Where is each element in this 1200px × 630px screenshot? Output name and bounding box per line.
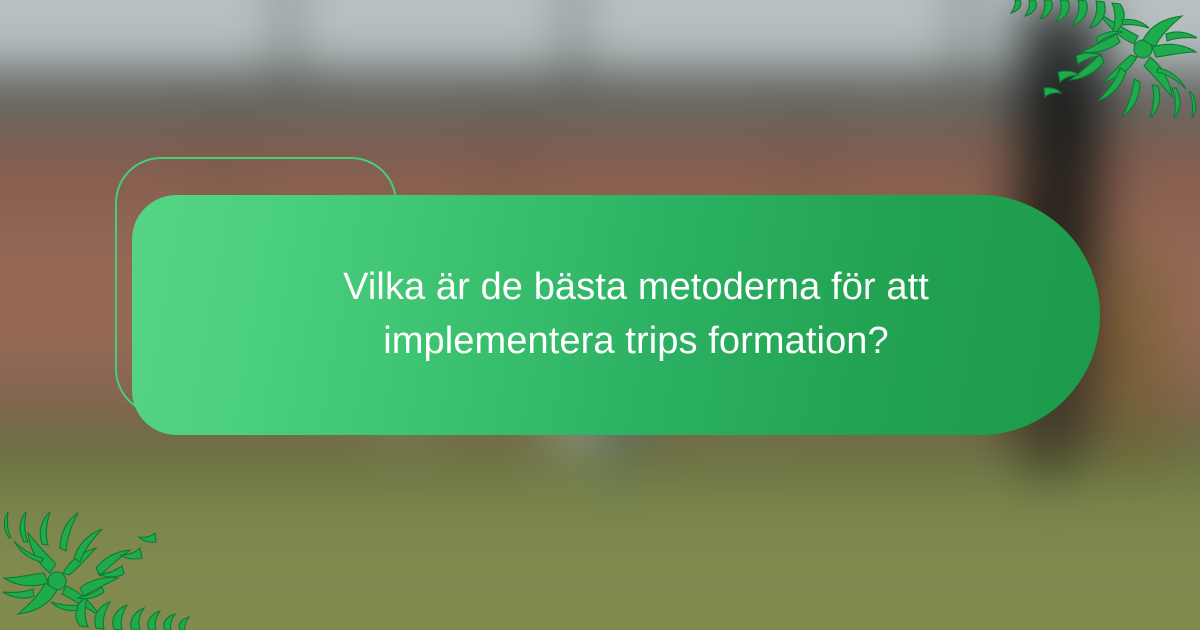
floral-corner-ornament-top-right: [1000, 0, 1200, 118]
floral-corner-ornament-bottom-left: [0, 512, 200, 630]
share-card-canvas: Vilka är de bästa metoderna för att impl…: [0, 0, 1200, 630]
question-title: Vilka är de bästa metoderna för att impl…: [316, 261, 956, 369]
question-card: Vilka är de bästa metoderna för att impl…: [132, 195, 1100, 435]
